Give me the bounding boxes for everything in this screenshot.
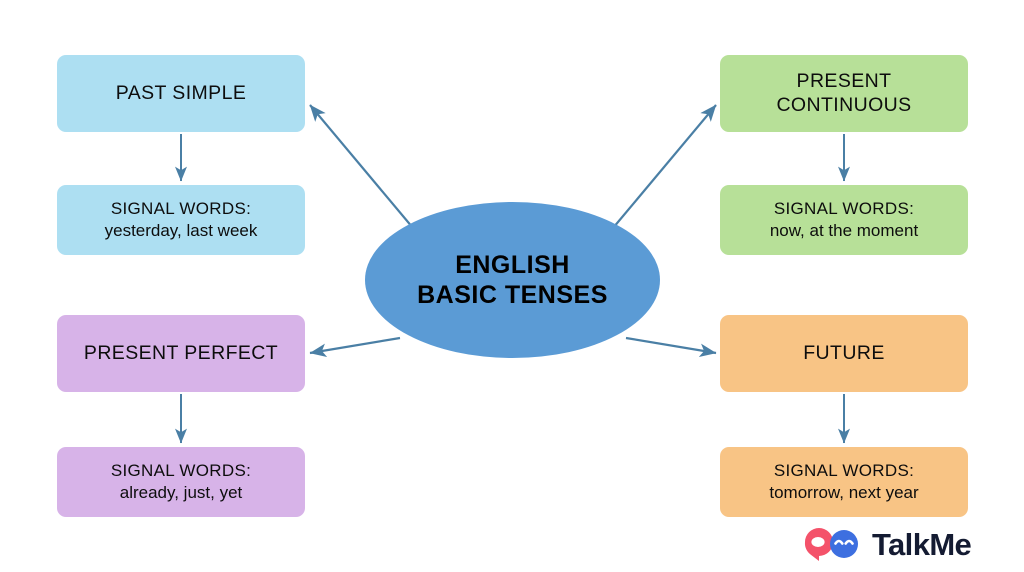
node-future-signal-words[interactable]: SIGNAL WORDS: tomorrow, next year (720, 447, 968, 517)
node-past-simple[interactable]: PAST SIMPLE (57, 55, 305, 132)
node-past-simple-title: PAST SIMPLE (116, 82, 246, 106)
signal-words-value: tomorrow, next year (769, 483, 918, 504)
node-center-english-basic-tenses[interactable]: ENGLISH BASIC TENSES (365, 202, 660, 358)
talkme-logo-icon (801, 525, 863, 563)
node-past-simple-signal-words[interactable]: SIGNAL WORDS: yesterday, last week (57, 185, 305, 255)
node-present-perfect-title: PRESENT PERFECT (84, 342, 278, 366)
signal-words-label: SIGNAL WORDS: (774, 199, 914, 220)
center-title-line1: ENGLISH (455, 250, 570, 281)
arrow-center-to-past-simple (310, 105, 413, 228)
signal-words-value: already, just, yet (120, 483, 243, 504)
center-title-line2: BASIC TENSES (417, 280, 608, 311)
signal-words-value: now, at the moment (770, 221, 918, 242)
node-future-title: FUTURE (803, 342, 884, 366)
signal-words-label: SIGNAL WORDS: (111, 199, 251, 220)
node-present-continuous-signal-words[interactable]: SIGNAL WORDS: now, at the moment (720, 185, 968, 255)
node-present-continuous[interactable]: PRESENT CONTINUOUS (720, 55, 968, 132)
arrow-center-to-present-continuous (613, 105, 716, 228)
signal-words-label: SIGNAL WORDS: (774, 461, 914, 482)
signal-words-label: SIGNAL WORDS: (111, 461, 251, 482)
diagram-canvas: PAST SIMPLE SIGNAL WORDS: yesterday, las… (0, 0, 1024, 572)
node-present-continuous-title-line2: CONTINUOUS (776, 94, 911, 118)
arrow-center-to-present-perfect (310, 338, 400, 353)
talkme-logo[interactable]: TalkMe (801, 524, 971, 564)
node-present-perfect-signal-words[interactable]: SIGNAL WORDS: already, just, yet (57, 447, 305, 517)
arrow-center-to-future (626, 338, 716, 353)
talkme-logo-text: TalkMe (872, 529, 971, 560)
node-present-perfect[interactable]: PRESENT PERFECT (57, 315, 305, 392)
signal-words-value: yesterday, last week (105, 221, 258, 242)
node-future[interactable]: FUTURE (720, 315, 968, 392)
node-present-continuous-title: PRESENT (797, 70, 892, 94)
